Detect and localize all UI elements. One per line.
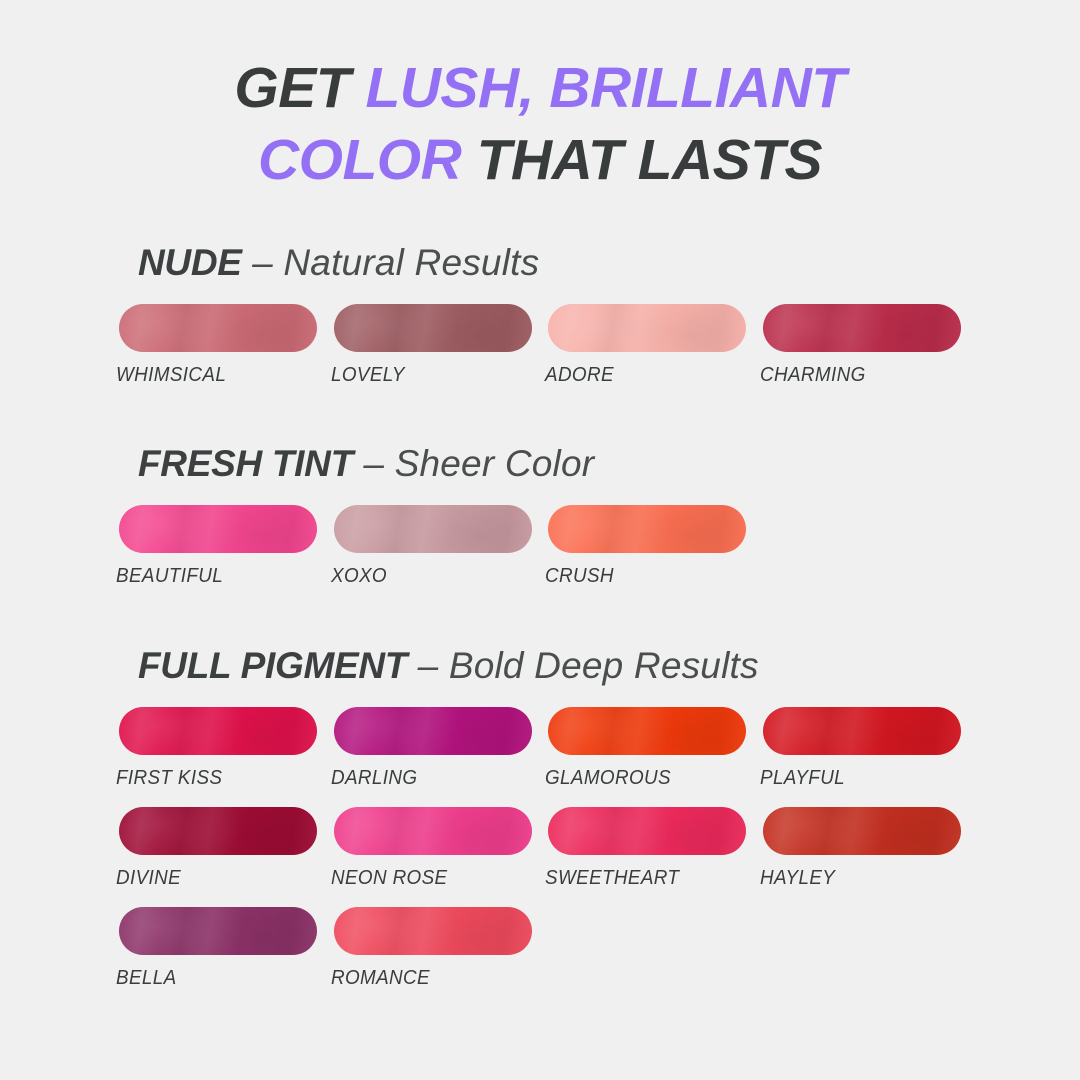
swatch-texture-overlay — [548, 505, 746, 553]
swatch-color-chip[interactable] — [119, 707, 317, 755]
swatch-label: BEAUTIFUL — [116, 564, 301, 588]
swatch-color-chip[interactable] — [119, 907, 317, 955]
swatch-color-chip[interactable] — [763, 807, 961, 855]
swatch-color-chip[interactable] — [119, 505, 317, 553]
swatch-label: PLAYFUL — [760, 766, 945, 790]
category-subtitle: – Bold Deep Results — [407, 645, 759, 686]
category-title: NUDE – Natural Results — [138, 240, 1080, 286]
swatch-texture-overlay — [763, 707, 961, 755]
swatch-sheen-overlay — [119, 304, 317, 352]
swatch-label: ADORE — [545, 363, 730, 387]
swatch-label: BELLA — [116, 966, 301, 990]
swatch-texture-overlay — [119, 304, 317, 352]
swatch-item-hayley[interactable]: HAYLEY — [763, 807, 961, 890]
swatch-item-crush[interactable]: CRUSH — [548, 505, 746, 588]
headline-segment-that-lasts: THAT LASTS — [461, 128, 822, 192]
swatch-item-playful[interactable]: PLAYFUL — [763, 707, 961, 790]
swatch-item-divine[interactable]: DIVINE — [119, 807, 317, 890]
swatch-label: SWEETHEART — [545, 866, 730, 890]
category-subtitle: – Natural Results — [242, 242, 540, 283]
swatch-row: BELLAROMANCE — [0, 907, 1080, 1007]
swatch-texture-overlay — [763, 807, 961, 855]
category-name: NUDE — [138, 242, 242, 283]
swatch-label: LOVELY — [331, 363, 516, 387]
swatch-grid: BEAUTIFULXOXOCRUSH — [0, 505, 1080, 605]
swatch-color-chip[interactable] — [119, 304, 317, 352]
swatch-label: CHARMING — [760, 363, 945, 387]
swatch-color-chip[interactable] — [334, 304, 532, 352]
category-name: FRESH TINT — [138, 443, 353, 484]
swatch-item-bella[interactable]: BELLA — [119, 907, 317, 990]
swatch-color-chip[interactable] — [763, 707, 961, 755]
swatch-item-lovely[interactable]: LOVELY — [334, 304, 532, 387]
swatch-color-chip[interactable] — [334, 707, 532, 755]
swatch-label: GLAMOROUS — [545, 766, 730, 790]
swatch-sheen-overlay — [763, 304, 961, 352]
category-fresh-tint: FRESH TINT – Sheer ColorBEAUTIFULXOXOCRU… — [0, 441, 1080, 605]
swatch-item-glamorous[interactable]: GLAMOROUS — [548, 707, 746, 790]
swatch-texture-overlay — [119, 907, 317, 955]
swatch-item-romance[interactable]: ROMANCE — [334, 907, 532, 990]
category-nude: NUDE – Natural ResultsWHIMSICALLOVELYADO… — [0, 240, 1080, 404]
page-headline: GET LUSH, BRILLIANT COLOR THAT LASTS — [0, 52, 1080, 196]
swatch-sheen-overlay — [119, 707, 317, 755]
swatch-item-xoxo[interactable]: XOXO — [334, 505, 532, 588]
swatch-item-neon-rose[interactable]: NEON ROSE — [334, 807, 532, 890]
headline-line-1: GET LUSH, BRILLIANT — [0, 52, 1080, 124]
swatch-texture-overlay — [119, 505, 317, 553]
swatch-texture-overlay — [119, 707, 317, 755]
swatch-sheen-overlay — [548, 505, 746, 553]
swatch-label: CRUSH — [545, 564, 730, 588]
swatch-sheen-overlay — [119, 807, 317, 855]
swatch-label: DARLING — [331, 766, 516, 790]
swatch-label: FIRST KISS — [116, 766, 301, 790]
swatch-color-chip[interactable] — [548, 707, 746, 755]
swatch-texture-overlay — [334, 707, 532, 755]
swatch-color-chip[interactable] — [334, 907, 532, 955]
swatch-texture-overlay — [334, 907, 532, 955]
swatch-sheen-overlay — [548, 707, 746, 755]
swatch-color-chip[interactable] — [334, 505, 532, 553]
swatch-color-chip[interactable] — [548, 304, 746, 352]
swatch-texture-overlay — [334, 807, 532, 855]
swatch-item-darling[interactable]: DARLING — [334, 707, 532, 790]
swatch-row: BEAUTIFULXOXOCRUSH — [0, 505, 1080, 605]
swatch-sheen-overlay — [334, 907, 532, 955]
swatch-color-chip[interactable] — [334, 807, 532, 855]
swatch-grid: WHIMSICALLOVELYADORECHARMING — [0, 304, 1080, 404]
swatch-texture-overlay — [119, 807, 317, 855]
swatch-color-chip[interactable] — [548, 807, 746, 855]
swatch-label: NEON ROSE — [331, 866, 516, 890]
category-full-pigment: FULL PIGMENT – Bold Deep ResultsFIRST KI… — [0, 643, 1080, 1007]
swatch-texture-overlay — [548, 707, 746, 755]
headline-line-2: COLOR THAT LASTS — [0, 124, 1080, 196]
swatch-sheen-overlay — [548, 807, 746, 855]
swatch-label: DIVINE — [116, 866, 301, 890]
category-subtitle: – Sheer Color — [353, 443, 594, 484]
swatch-color-chip[interactable] — [763, 304, 961, 352]
swatch-texture-overlay — [334, 304, 532, 352]
swatch-sheen-overlay — [334, 707, 532, 755]
swatch-grid: FIRST KISSDARLINGGLAMOROUSPLAYFULDIVINEN… — [0, 707, 1080, 1007]
swatch-item-beautiful[interactable]: BEAUTIFUL — [119, 505, 317, 588]
swatch-row: DIVINENEON ROSESWEETHEARTHAYLEY — [0, 807, 1080, 907]
category-name: FULL PIGMENT — [138, 645, 407, 686]
swatch-label: XOXO — [331, 564, 516, 588]
swatch-sheen-overlay — [334, 807, 532, 855]
swatch-texture-overlay — [334, 505, 532, 553]
headline-segment-get: GET — [234, 56, 365, 120]
swatch-sheen-overlay — [334, 505, 532, 553]
swatch-texture-overlay — [548, 807, 746, 855]
swatch-row: FIRST KISSDARLINGGLAMOROUSPLAYFUL — [0, 707, 1080, 807]
swatch-texture-overlay — [548, 304, 746, 352]
swatch-sheen-overlay — [119, 907, 317, 955]
swatch-item-charming[interactable]: CHARMING — [763, 304, 961, 387]
swatch-sheen-overlay — [334, 304, 532, 352]
swatch-color-chip[interactable] — [119, 807, 317, 855]
headline-segment-color: COLOR — [258, 128, 461, 192]
swatch-sheen-overlay — [548, 304, 746, 352]
category-title: FRESH TINT – Sheer Color — [138, 441, 1080, 487]
swatch-color-chip[interactable] — [548, 505, 746, 553]
swatch-sheen-overlay — [763, 707, 961, 755]
swatch-item-first-kiss[interactable]: FIRST KISS — [119, 707, 317, 790]
swatch-label: WHIMSICAL — [116, 363, 301, 387]
swatch-sheen-overlay — [119, 505, 317, 553]
swatch-texture-overlay — [763, 304, 961, 352]
headline-segment-lush-brilliant: LUSH, BRILLIANT — [365, 56, 845, 120]
swatch-label: HAYLEY — [760, 866, 945, 890]
swatch-label: ROMANCE — [331, 966, 516, 990]
swatch-row: WHIMSICALLOVELYADORECHARMING — [0, 304, 1080, 404]
swatch-item-whimsical[interactable]: WHIMSICAL — [119, 304, 317, 387]
swatch-item-sweetheart[interactable]: SWEETHEART — [548, 807, 746, 890]
swatch-item-adore[interactable]: ADORE — [548, 304, 746, 387]
swatch-sheen-overlay — [763, 807, 961, 855]
category-title: FULL PIGMENT – Bold Deep Results — [138, 643, 1080, 689]
